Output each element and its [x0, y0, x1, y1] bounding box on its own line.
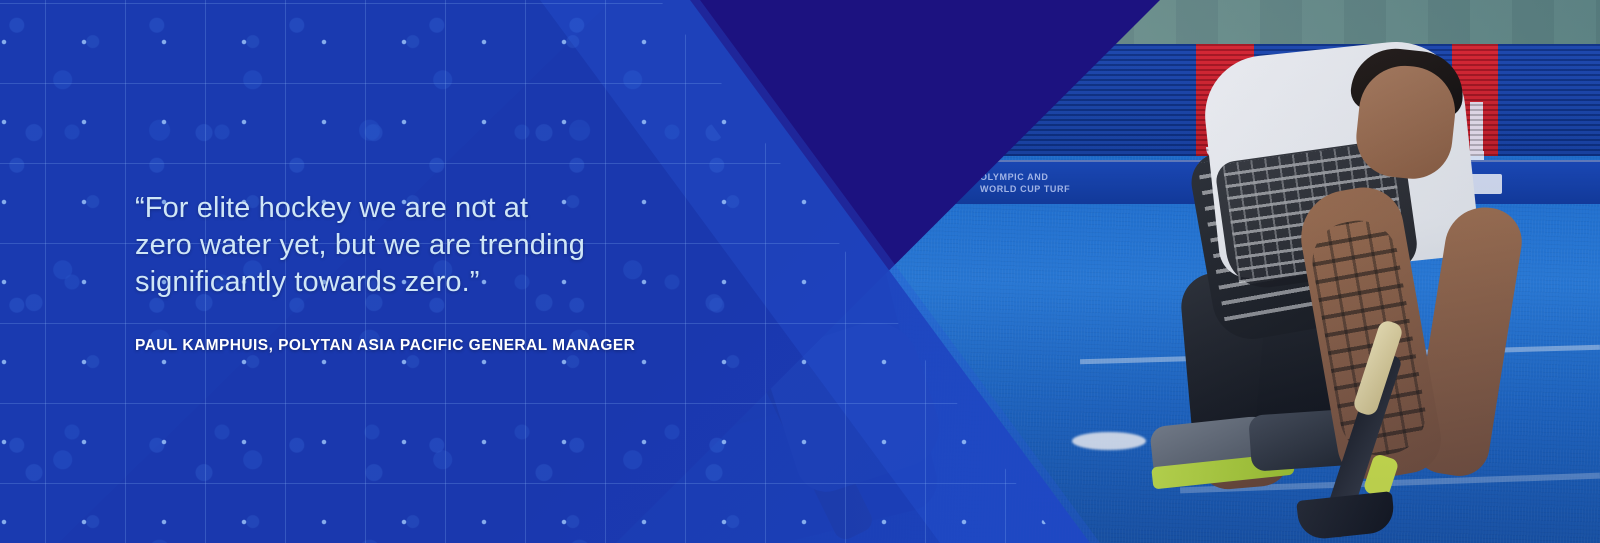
quote-attribution: PAUL KAMPHUIS, POLYTAN ASIA PACIFIC GENE…	[135, 337, 775, 355]
hero-quote-banner: FIH HOCKEY FIH PRO POLIGRAS OLYMPIC AND …	[0, 0, 1600, 543]
field-player-stick-head	[1296, 491, 1396, 541]
quote-block: “For elite hockey we are not at zero wat…	[135, 190, 775, 355]
quote-text: “For elite hockey we are not at zero wat…	[135, 190, 775, 301]
field-player-figure: vodafone	[1130, 20, 1550, 543]
